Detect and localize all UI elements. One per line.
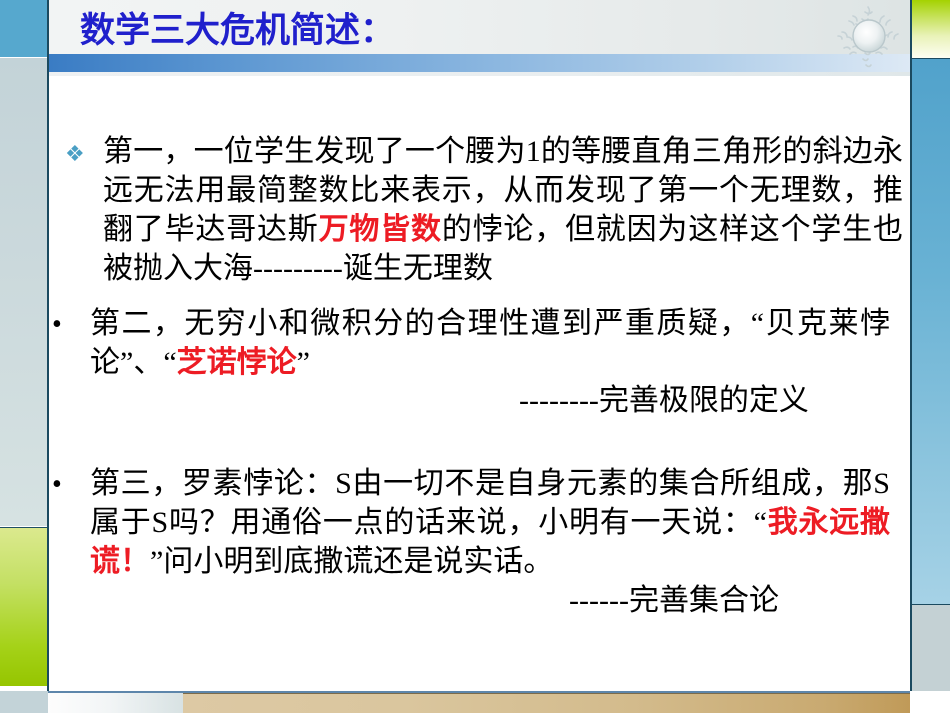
footer-strip xyxy=(0,691,950,713)
paragraph-3-attribution: ------完善集合论 xyxy=(569,581,779,620)
bullet-dot-icon-2: • xyxy=(52,464,86,504)
paragraph-2-attribution: --------完善极限的定义 xyxy=(519,381,809,420)
footer-right-cap xyxy=(910,691,950,713)
sun-starburst-icon xyxy=(832,2,906,72)
paragraph-1-highlight: 万物皆数 xyxy=(319,213,442,246)
left-band-green-block xyxy=(0,527,48,686)
paragraph-2-run-3: ” xyxy=(297,346,310,379)
footer-tan-segment xyxy=(183,693,910,713)
bullet-dot-icon: • xyxy=(52,304,86,344)
paragraph-3-run-3: ”问小明到底撒谎还是说实话。 xyxy=(150,545,553,578)
paragraph-1-text: 第一，一位学生发现了一个腰为1的等腰直角三角形的斜边永远无法用最简整数比来表示，… xyxy=(103,132,903,288)
right-band-gray-block xyxy=(912,604,950,691)
footer-light-segment xyxy=(48,693,183,713)
paragraph-2-highlight: 芝诺悖论 xyxy=(177,346,297,379)
right-decorative-band xyxy=(910,0,950,691)
page-title: 数学三大危机简述： xyxy=(80,9,395,53)
paragraph-2-text: 第二，无穷小和微积分的合理性遭到严重质疑，“贝克莱悖论”、“芝诺悖论” xyxy=(90,304,890,382)
left-decorative-band xyxy=(0,0,48,691)
bullet-diamond-icon: ❖ xyxy=(65,132,99,174)
left-band-gray-block xyxy=(0,58,48,526)
left-band-blue-block xyxy=(0,0,48,57)
header-accent-bar xyxy=(49,54,910,72)
paragraph-3-text: 第三，罗素悖论：S由一切不是自身元素的集合所组成，那S属于S吗？用通俗一点的话来… xyxy=(90,464,890,581)
right-band-blue-block xyxy=(912,58,950,604)
slide-content: ❖ 第一，一位学生发现了一个腰为1的等腰直角三角形的斜边永远无法用最简整数比来表… xyxy=(49,76,910,691)
presentation-slide: 数学三大危机简述： xyxy=(0,0,950,713)
right-band-green-block xyxy=(912,0,950,58)
